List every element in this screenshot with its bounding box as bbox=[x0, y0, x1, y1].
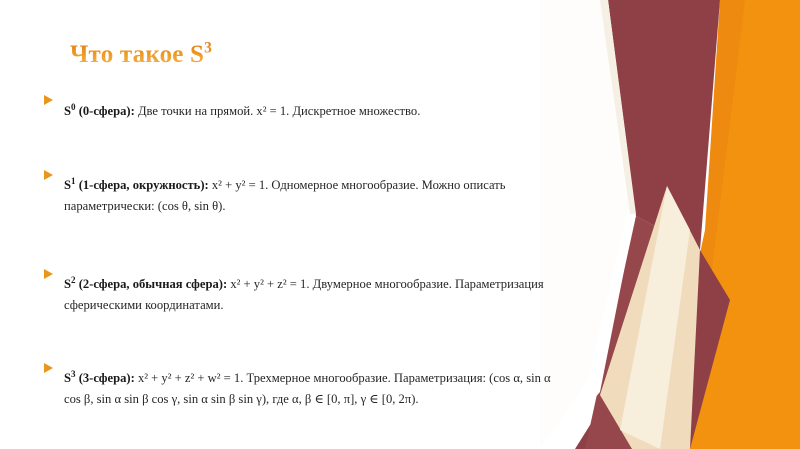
list-item-text: S2 (2-сфера, обычная сфера): x² + y² + z… bbox=[64, 274, 560, 315]
list-item: S3 (3-сфера): x² + y² + z² + w² = 1. Тре… bbox=[44, 356, 560, 422]
bullet-body: Две точки на прямой. x² = 1. Дискретное … bbox=[135, 104, 421, 118]
list-item-text: S1 (1-сфера, окружность): x² + y² = 1. О… bbox=[64, 175, 560, 216]
orange-wedge-light-shape bbox=[690, 0, 800, 449]
list-item: S1 (1-сфера, окружность): x² + y² = 1. О… bbox=[44, 163, 560, 229]
bullet-body: x² + y² + z² + w² = 1. Трехмерное многоо… bbox=[64, 371, 551, 405]
corner-graphic-svg bbox=[540, 0, 800, 449]
cream-wedge-light-shape bbox=[620, 186, 690, 449]
triangle-right-bullet-icon bbox=[44, 356, 64, 373]
maroon-band-lower-shape bbox=[575, 250, 730, 449]
bullet-lead-rest: (0-сфера): bbox=[76, 104, 135, 118]
slide-title: Что такое S3 bbox=[70, 41, 212, 70]
triangle-right-bullet-icon bbox=[44, 88, 64, 105]
bullet-lead-label: S bbox=[64, 104, 71, 118]
slide-canvas: Что такое S3 S0 (0-сфера): Две точки на … bbox=[0, 0, 800, 449]
decorative-corner-graphic bbox=[540, 0, 800, 449]
bullet-lead-rest: (3-сфера): bbox=[76, 371, 135, 385]
maroon-band-lower-dark-shape bbox=[585, 216, 700, 449]
list-item: S0 (0-сфера): Две точки на прямой. x² = … bbox=[44, 88, 560, 134]
slide-title-superscript: 3 bbox=[204, 39, 212, 56]
bullet-list: S0 (0-сфера): Две точки на прямой. x² = … bbox=[44, 88, 560, 421]
bullet-lead-label: S bbox=[64, 178, 71, 192]
list-item-text: S0 (0-сфера): Две точки на прямой. x² = … bbox=[64, 101, 560, 121]
orange-wedge-shape bbox=[658, 0, 800, 449]
bullet-lead-rest: (2-сфера, обычная сфера): bbox=[76, 277, 228, 291]
bullet-lead-label: S bbox=[64, 277, 71, 291]
list-item: S2 (2-сфера, обычная сфера): x² + y² + z… bbox=[44, 262, 560, 328]
triangle-right-bullet-icon bbox=[44, 262, 64, 279]
bullet-lead-rest: (1-сфера, окружность): bbox=[76, 178, 209, 192]
slide-title-text: Что такое S bbox=[70, 41, 204, 68]
bullet-lead-label: S bbox=[64, 371, 71, 385]
triangle-right-bullet-icon bbox=[44, 163, 64, 180]
list-item-text: S3 (3-сфера): x² + y² + z² + w² = 1. Тре… bbox=[64, 368, 560, 409]
maroon-band-upper-shape bbox=[608, 0, 720, 250]
cream-edge-line-shape bbox=[600, 0, 636, 214]
cream-wedge-shape bbox=[600, 186, 700, 449]
